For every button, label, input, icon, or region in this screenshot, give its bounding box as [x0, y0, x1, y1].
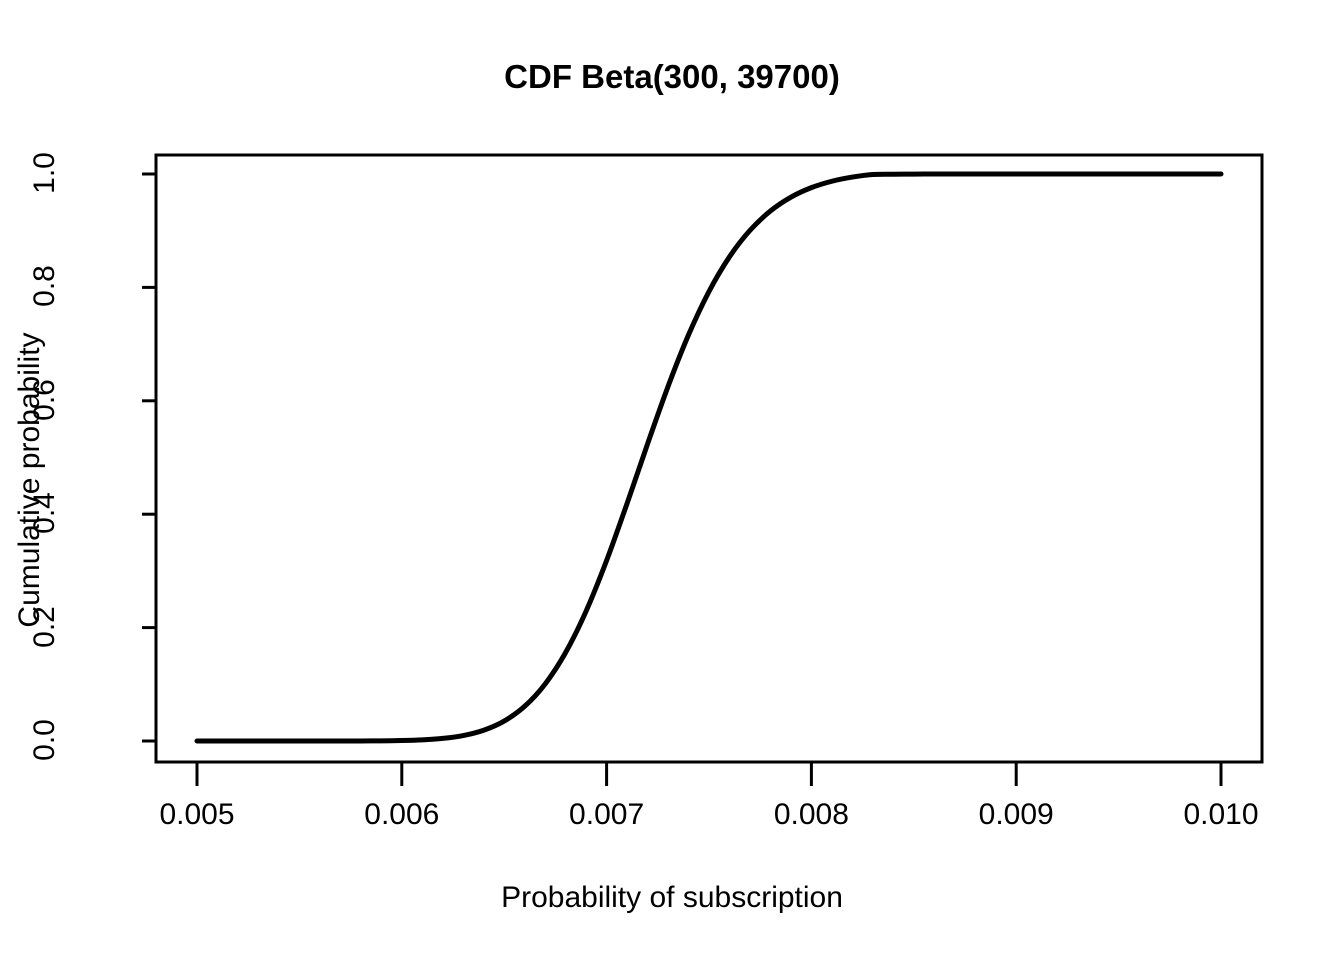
x-tick-label: 0.010	[1183, 798, 1258, 832]
cdf-curve	[197, 174, 1221, 741]
x-tick-label: 0.009	[979, 798, 1054, 832]
y-axis-ticks	[142, 174, 156, 741]
x-tick-label: 0.008	[774, 798, 849, 832]
x-tick-label: 0.007	[569, 798, 644, 832]
x-axis-ticks	[197, 762, 1221, 786]
y-axis-title: Cumulative probability	[8, 0, 52, 960]
plot-frame	[156, 155, 1262, 762]
x-tick-label: 0.006	[364, 798, 439, 832]
chart-page: CDF Beta(300, 39700) 0.005 0.006 0.007 0…	[0, 0, 1344, 960]
x-tick-label: 0.005	[159, 798, 234, 832]
x-axis-title: Probability of subscription	[0, 881, 1344, 915]
